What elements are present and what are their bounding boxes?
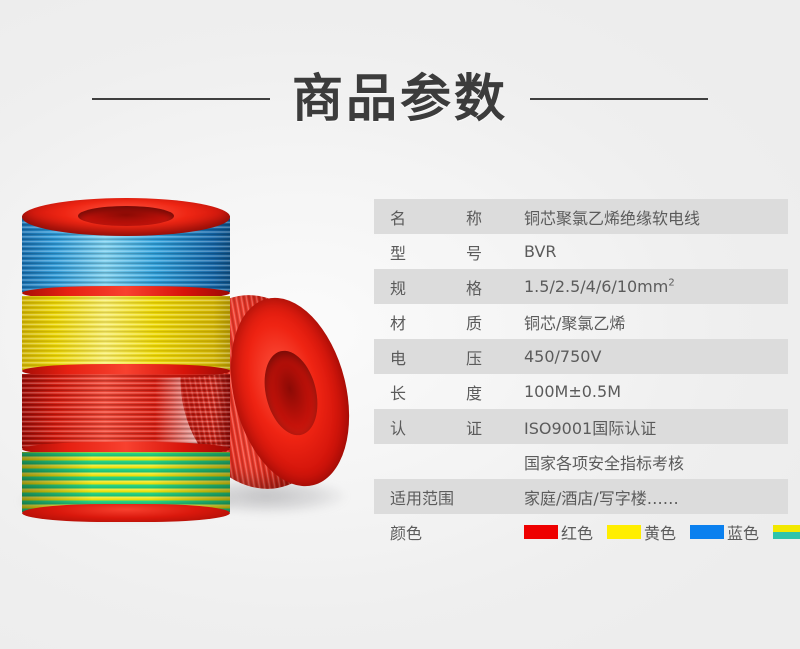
color-chip-dual-top bbox=[773, 525, 800, 532]
coil-stack-top-bore bbox=[78, 206, 174, 226]
page-header: 商品参数 bbox=[0, 56, 800, 142]
spec-value-model: BVR bbox=[524, 242, 557, 261]
coil-red-body bbox=[22, 374, 230, 448]
spec-value-specification-text: 1.5/2.5/4/6/10mm bbox=[524, 277, 668, 296]
header-rule-left bbox=[92, 98, 270, 100]
color-chip-yellow-icon bbox=[607, 525, 641, 539]
color-name-red: 红色 bbox=[561, 520, 593, 544]
spec-label-color: 颜色 bbox=[390, 520, 482, 544]
color-item-yellow: 黄色 bbox=[607, 520, 676, 544]
coil-dual-color-body bbox=[22, 452, 230, 512]
coil-yellow bbox=[22, 296, 230, 370]
spec-value-certification-continued: 国家各项安全指标考核 bbox=[524, 450, 684, 474]
spec-row-material: 材 质 铜芯/聚氯乙烯 bbox=[374, 304, 788, 339]
spec-row-application-scope: 适用范围 家庭/酒店/写字楼…… bbox=[374, 479, 788, 514]
header-rule-right bbox=[530, 98, 708, 100]
spec-row-specification: 规 格 1.5/2.5/4/6/10mm2 bbox=[374, 269, 788, 304]
spec-row-name: 名 称 铜芯聚氯乙烯绝缘软电线 bbox=[374, 199, 788, 234]
spec-table: 名 称 铜芯聚氯乙烯绝缘软电线 型 号 BVR 规 格 1.5/2.5/4/6/… bbox=[374, 199, 788, 549]
spec-value-certification: ISO9001国际认证 bbox=[524, 415, 656, 439]
spec-label-specification: 规 格 bbox=[390, 275, 482, 299]
spec-row-voltage: 电 压 450/750V bbox=[374, 339, 788, 374]
color-swatch-list: 红色 黄色 蓝色 双色 bbox=[524, 520, 800, 544]
color-item-blue: 蓝色 bbox=[690, 520, 759, 544]
spec-label-model: 型 号 bbox=[390, 240, 482, 264]
color-chip-dual-icon bbox=[773, 525, 800, 539]
spec-label-application-scope: 适用范围 bbox=[390, 485, 482, 509]
spec-value-voltage: 450/750V bbox=[524, 347, 601, 366]
spec-row-certification-continued: 国家各项安全指标考核 bbox=[374, 444, 788, 479]
spec-value-specification-superscript: 2 bbox=[668, 278, 674, 289]
spec-value-specification: 1.5/2.5/4/6/10mm2 bbox=[524, 277, 675, 296]
spec-row-length: 长 度 100M±0.5M bbox=[374, 374, 788, 409]
spec-label-name: 名 称 bbox=[390, 205, 482, 229]
spec-value-name: 铜芯聚氯乙烯绝缘软电线 bbox=[524, 205, 700, 229]
coil-yellow-body bbox=[22, 296, 230, 370]
product-spec-page: 商品参数 bbox=[0, 0, 800, 649]
color-chip-dual-bottom bbox=[773, 532, 800, 539]
coil-stack-bottom-flange bbox=[22, 504, 230, 522]
color-item-red: 红色 bbox=[524, 520, 593, 544]
spec-row-model: 型 号 BVR bbox=[374, 234, 788, 269]
spec-value-application-scope: 家庭/酒店/写字楼…… bbox=[524, 485, 679, 509]
spec-row-certification: 认 证 ISO9001国际认证 bbox=[374, 409, 788, 444]
product-photo bbox=[0, 180, 360, 525]
coil-red bbox=[22, 374, 230, 448]
color-name-blue: 蓝色 bbox=[727, 520, 759, 544]
spec-label-certification: 认 证 bbox=[390, 415, 482, 439]
color-name-yellow: 黄色 bbox=[644, 520, 676, 544]
spec-value-length: 100M±0.5M bbox=[524, 382, 621, 401]
color-item-dual: 双色 bbox=[773, 520, 800, 544]
color-chip-blue-icon bbox=[690, 525, 724, 539]
spec-label-length: 长 度 bbox=[390, 380, 482, 404]
spec-label-voltage: 电 压 bbox=[390, 345, 482, 369]
spec-row-color: 颜色 红色 黄色 蓝色 双色 bbox=[374, 514, 788, 549]
color-chip-red-icon bbox=[524, 525, 558, 539]
spec-label-material: 材 质 bbox=[390, 310, 482, 334]
spec-value-material: 铜芯/聚氯乙烯 bbox=[524, 310, 625, 334]
coil-dual-color bbox=[22, 452, 230, 512]
page-title: 商品参数 bbox=[270, 74, 530, 125]
